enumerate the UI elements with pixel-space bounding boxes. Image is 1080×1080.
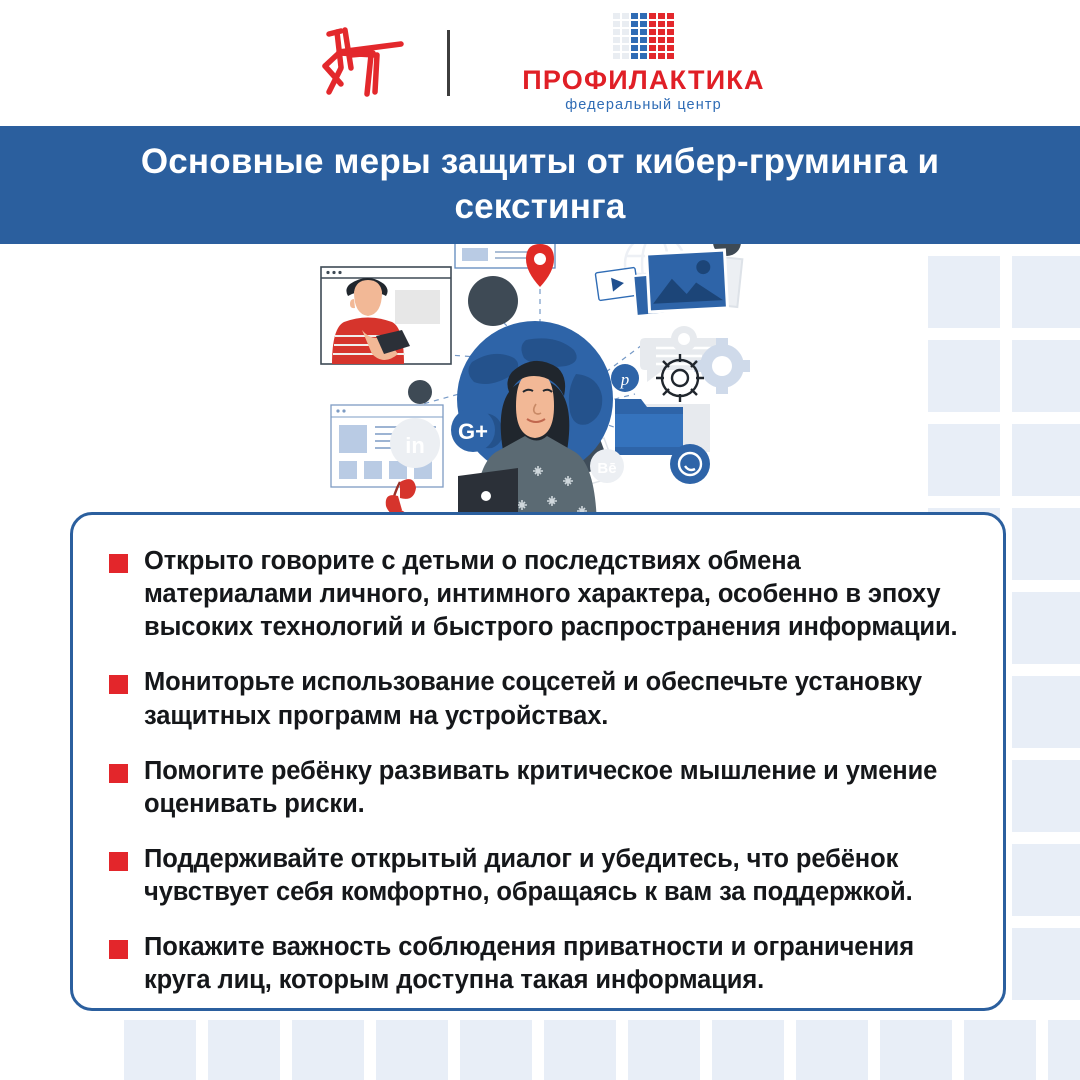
bullet-text: Мониторьте использование соцсетей и обес… <box>144 666 967 732</box>
brand-name: ПРОФИЛАКТИКА <box>522 67 764 94</box>
background-square <box>928 256 1000 328</box>
bullet-square-icon <box>109 675 128 694</box>
decor-circle-dark <box>468 276 518 326</box>
brand-grid-cell <box>640 29 647 35</box>
brand-grid-icon <box>613 13 674 59</box>
logo-group: ПРОФИЛАКТИКА федеральный центр <box>315 13 764 113</box>
background-square <box>1012 844 1080 916</box>
background-square <box>928 424 1000 496</box>
brand-grid-cell <box>667 53 674 59</box>
brand-grid-cell <box>658 29 665 35</box>
bullet-square-icon <box>109 852 128 871</box>
background-square <box>628 1020 700 1080</box>
brand-grid-cell <box>631 21 638 27</box>
brand-grid-cell <box>622 53 629 59</box>
bullet-text: Покажите важность соблюдения приватности… <box>144 931 967 997</box>
background-square <box>880 1020 952 1080</box>
brand-grid-cell <box>649 13 656 19</box>
svg-text:Bē: Bē <box>597 460 616 477</box>
background-square <box>460 1020 532 1080</box>
svg-text:G+: G+ <box>458 419 488 444</box>
brand-grid-cell <box>649 21 656 27</box>
background-square <box>1012 424 1080 496</box>
video-call-window-boy <box>321 267 451 364</box>
brand-grid-cell <box>667 29 674 35</box>
bullet-square-icon <box>109 940 128 959</box>
brand-grid-cell <box>649 53 656 59</box>
brand-grid-cell <box>658 45 665 51</box>
brand-grid-cell <box>631 37 638 43</box>
background-square <box>1048 1020 1080 1080</box>
background-square <box>712 1020 784 1080</box>
bullet-item: Мониторьте использование соцсетей и обес… <box>109 666 967 732</box>
brand-grid-cell <box>631 13 638 19</box>
brand-grid-cell <box>622 21 629 27</box>
background-square <box>964 1020 1036 1080</box>
background-square <box>1012 928 1080 1000</box>
pinterest-badge-icon: p <box>611 364 639 392</box>
background-square <box>1012 340 1080 412</box>
brand-grid-cell <box>640 37 647 43</box>
brand-grid-cell <box>622 29 629 35</box>
brand-grid-cell <box>613 13 620 19</box>
photo-frames-icon <box>633 250 742 316</box>
recommendations-card: Открыто говорите с детьми о последствиях… <box>70 512 1006 1011</box>
brand-grid-cell <box>658 13 665 19</box>
background-square <box>544 1020 616 1080</box>
brand-block: ПРОФИЛАКТИКА федеральный центр <box>522 13 764 113</box>
background-square <box>796 1020 868 1080</box>
google-plus-badge-icon: G+ <box>451 408 495 452</box>
background-square <box>928 340 1000 412</box>
svg-text:p: p <box>620 370 630 389</box>
bullet-item: Поддерживайте открытый диалог и убедитес… <box>109 843 967 909</box>
background-square <box>1012 760 1080 832</box>
play-video-card-icon <box>595 267 639 300</box>
brand-grid-cell <box>622 45 629 51</box>
bullet-item: Помогите ребёнку развивать критическое м… <box>109 755 967 821</box>
background-square <box>376 1020 448 1080</box>
brand-grid-cell <box>631 53 638 59</box>
background-square <box>1012 676 1080 748</box>
location-pin-icon <box>526 244 554 287</box>
linkedin-badge-icon: in <box>390 418 440 468</box>
brand-grid-cell <box>649 45 656 51</box>
brand-grid-cell <box>640 45 647 51</box>
decor-circle-dark-small <box>408 380 432 404</box>
svg-text:in: in <box>405 433 425 458</box>
brand-grid-cell <box>658 53 665 59</box>
background-square <box>1012 508 1080 580</box>
brand-grid-cell <box>658 21 665 27</box>
poster-root: ПРОФИЛАКТИКА федеральный центр Основные … <box>0 0 1080 1080</box>
brand-subtitle: федеральный центр <box>565 98 722 113</box>
page-title: Основные меры защиты от кибер-груминга и… <box>90 140 990 230</box>
brand-grid-cell <box>622 13 629 19</box>
brand-grid-cell <box>613 45 620 51</box>
bullet-list: Открыто говорите с детьми о последствиях… <box>109 545 967 998</box>
brand-grid-cell <box>658 37 665 43</box>
whatsapp-badge-icon <box>670 444 710 484</box>
bullet-text: Поддерживайте открытый диалог и убедитес… <box>144 843 967 909</box>
brand-grid-cell <box>613 37 620 43</box>
background-square <box>1012 256 1080 328</box>
brand-grid-cell <box>613 53 620 59</box>
brand-grid-cell <box>613 29 620 35</box>
background-square <box>1012 592 1080 664</box>
header-logo-bar: ПРОФИЛАКТИКА федеральный центр <box>0 0 1080 126</box>
brand-grid-cell <box>613 21 620 27</box>
brand-grid-cell <box>667 45 674 51</box>
brand-grid-cell <box>640 13 647 19</box>
background-square <box>124 1020 196 1080</box>
brand-grid-cell <box>667 37 674 43</box>
brand-grid-cell <box>649 37 656 43</box>
bullet-item: Покажите важность соблюдения приватности… <box>109 931 967 997</box>
brand-grid-cell <box>667 13 674 19</box>
bullet-text: Помогите ребёнку развивать критическое м… <box>144 755 967 821</box>
title-banner: Основные меры защиты от кибер-груминга и… <box>0 126 1080 244</box>
chair-line-art-icon <box>315 22 411 104</box>
bullet-item: Открыто говорите с детьми о последствиях… <box>109 545 967 644</box>
brand-grid-cell <box>640 53 647 59</box>
gears-icon <box>656 326 750 402</box>
brand-grid-cell <box>631 29 638 35</box>
brand-grid-cell <box>622 37 629 43</box>
behance-badge-icon: Bē <box>590 449 624 483</box>
bullet-square-icon <box>109 764 128 783</box>
background-square <box>292 1020 364 1080</box>
brand-grid-cell <box>667 21 674 27</box>
background-square <box>208 1020 280 1080</box>
bullet-square-icon <box>109 554 128 573</box>
logo-divider <box>447 30 450 96</box>
brand-grid-cell <box>631 45 638 51</box>
brand-grid-cell <box>649 29 656 35</box>
hero-illustration: G+ in p Bē <box>290 244 790 534</box>
bullet-text: Открыто говорите с детьми о последствиях… <box>144 545 967 644</box>
brand-grid-cell <box>640 21 647 27</box>
